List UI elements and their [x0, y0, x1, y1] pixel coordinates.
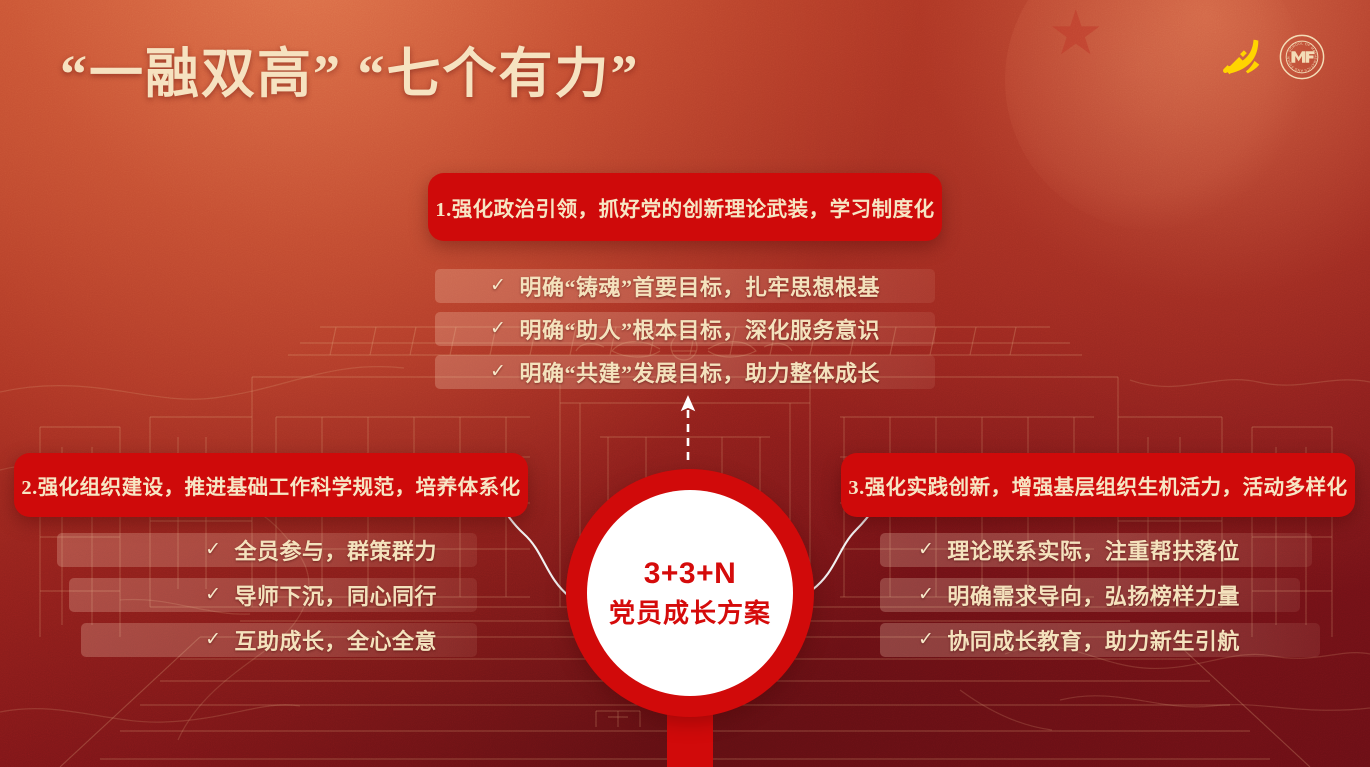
center-title-line2: 党员成长方案: [609, 593, 771, 630]
list-item[interactable]: ✓ 明确需求导向，弘扬榜样力量: [880, 578, 1300, 612]
list-item-label: 明确“助人”根本目标，深化服务意识: [519, 313, 880, 345]
check-icon: ✓: [490, 317, 506, 340]
center-title-line1: 3+3+N: [644, 557, 737, 591]
list-item-label: 明确需求导向，弘扬榜样力量: [947, 579, 1240, 611]
slide-canvas: ★: [0, 0, 1370, 767]
section-banner-right[interactable]: 3.强化实践创新，增强基层组织生机活力，活动多样化: [841, 453, 1355, 517]
list-item-label: 互助成长，全心全意: [234, 624, 437, 656]
list-item-label: 理论联系实际，注重帮扶落位: [947, 534, 1240, 566]
list-item[interactable]: ✓ 全员参与，群策群力: [57, 533, 477, 567]
magnifier-ring: 3+3+N 党员成长方案: [566, 469, 814, 717]
check-icon: ✓: [205, 583, 221, 606]
list-item[interactable]: ✓ 明确“助人”根本目标，深化服务意识: [435, 312, 935, 346]
slide-header: “一融双高” “七个有力” SCHOOL OF MATHEMATICS AND: [0, 0, 1370, 130]
check-icon: ✓: [918, 583, 934, 606]
check-icon: ✓: [490, 360, 506, 383]
check-icon: ✓: [490, 274, 506, 297]
list-item[interactable]: ✓ 明确“铸魂”首要目标，扎牢思想根基: [435, 269, 935, 303]
list-item[interactable]: ✓ 协同成长教育，助力新生引航: [880, 623, 1320, 657]
list-item-label: 全员参与，群策群力: [234, 534, 437, 566]
check-icon: ✓: [918, 538, 934, 561]
list-item[interactable]: ✓ 理论联系实际，注重帮扶落位: [880, 533, 1312, 567]
center-magnifier[interactable]: 3+3+N 党员成长方案: [566, 469, 814, 767]
list-item-label: 协同成长教育，助力新生引航: [947, 624, 1240, 656]
list-item[interactable]: ✓ 导师下沉，同心同行: [69, 578, 477, 612]
check-icon: ✓: [205, 538, 221, 561]
list-item[interactable]: ✓ 互助成长，全心全意: [81, 623, 477, 657]
section-banner-left[interactable]: 2.强化组织建设，推进基础工作科学规范，培养体系化: [14, 453, 528, 517]
list-item[interactable]: ✓ 明确“共建”发展目标，助力整体成长: [435, 355, 935, 389]
check-icon: ✓: [205, 628, 221, 651]
magnifier-face: 3+3+N 党员成长方案: [587, 490, 793, 696]
list-item-label: 导师下沉，同心同行: [234, 579, 437, 611]
school-logo-icon: SCHOOL OF MATHEMATICS AND FINANCE: [1278, 33, 1326, 81]
arrow-center-to-left: [500, 503, 570, 597]
list-item-label: 明确“铸魂”首要目标，扎牢思想根基: [519, 270, 880, 302]
page-title: “一融双高” “七个有力”: [60, 29, 640, 108]
check-icon: ✓: [918, 628, 934, 651]
party-emblem-icon: [1218, 33, 1266, 81]
logo-group: SCHOOL OF MATHEMATICS AND FINANCE: [1218, 33, 1326, 81]
list-item-label: 明确“共建”发展目标，助力整体成长: [519, 356, 880, 388]
section-banner-top[interactable]: 1.强化政治引领，抓好党的创新理论武装，学习制度化: [428, 173, 942, 241]
